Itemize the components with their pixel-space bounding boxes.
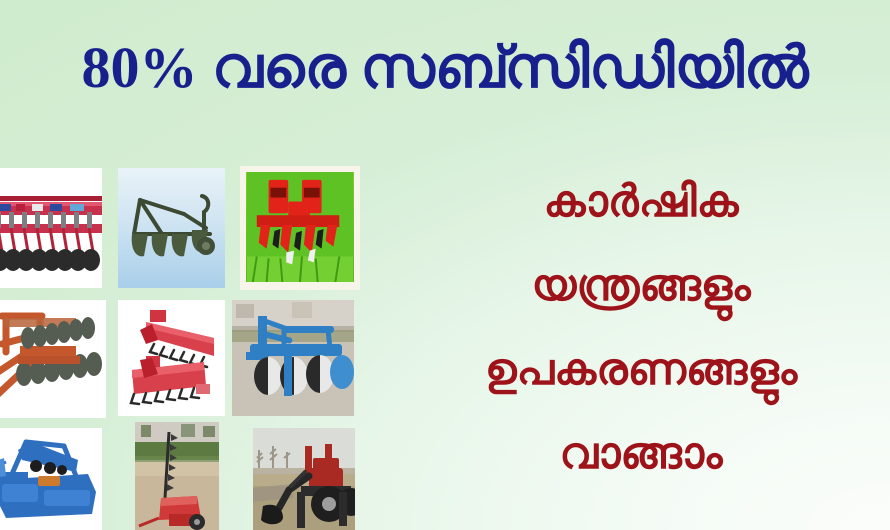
gallery-tile-seed-planter: Red two-row seed planter on green field bbox=[240, 166, 360, 290]
promo-line-3: ഉപകരണങ്ങളും bbox=[392, 328, 890, 412]
gallery-tile-mouldboard-plough: Green three-furrow mouldboard plough bbox=[118, 168, 225, 288]
seed-planter-image bbox=[246, 172, 354, 282]
gallery-tile-rotavator: Two red rotavators / rotary tillers bbox=[118, 300, 225, 416]
seed-drill-image bbox=[0, 168, 102, 288]
promo-line-4: വാങ്ങാം bbox=[392, 412, 890, 496]
gallery-tile-disc-plough: Blue four-disc plough on concrete yard bbox=[232, 300, 354, 416]
subsidy-poster: 80% വരെ സബ്സിഡിയിൽ കാർഷിക യന്ത്രങ്ങളും ഉ… bbox=[0, 0, 890, 530]
mouldboard-plough-image bbox=[118, 168, 225, 288]
promo-line-1: കാർഷിക bbox=[392, 160, 890, 244]
gallery-tile-seed-drill: Red seed drill with disc openers bbox=[0, 168, 102, 288]
promo-text-block: കാർഷിക യന്ത്രങ്ങളും ഉപകരണങ്ങളും വാങ്ങാം bbox=[392, 160, 890, 496]
promo-line-2: യന്ത്രങ്ങളും bbox=[392, 244, 890, 328]
page-title: 80% വരെ സബ്സിഡിയിൽ bbox=[0, 38, 890, 99]
equipment-gallery: Red seed drill with disc openers bbox=[0, 166, 366, 530]
rotavator-image bbox=[118, 300, 225, 416]
gallery-tile-blue-harvester: Blue tractor-mounted harvester unit bbox=[0, 428, 102, 530]
sickle-bar-mower-image bbox=[135, 422, 219, 530]
blue-harvester-image bbox=[0, 428, 102, 530]
disc-plough-image bbox=[232, 300, 354, 416]
disc-harrow-image bbox=[0, 300, 106, 418]
gallery-tile-disc-harrow: Orange offset disc harrow bbox=[0, 300, 106, 418]
gallery-tile-sickle-bar-mower: Red sickle bar mower with vertical cutte… bbox=[135, 422, 219, 530]
gallery-tile-tractor-backhoe: Tractor with black backhoe attachment bbox=[253, 428, 355, 530]
tractor-backhoe-image bbox=[253, 428, 355, 530]
